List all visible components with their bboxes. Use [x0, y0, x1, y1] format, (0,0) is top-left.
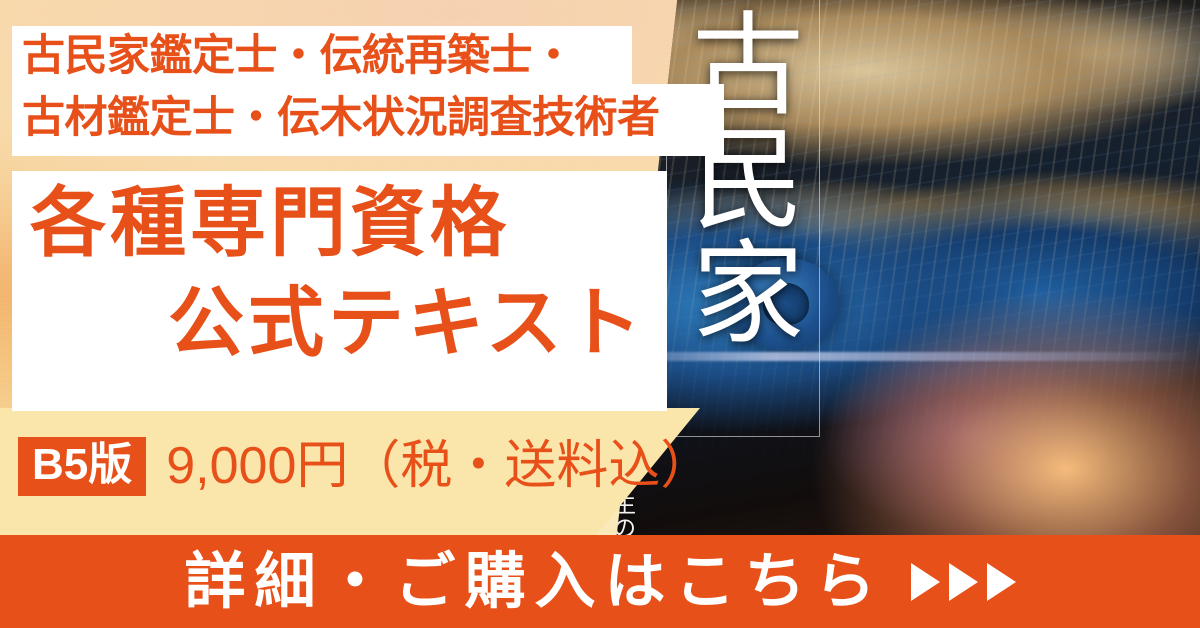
format-badge: B5版 [18, 437, 146, 496]
header-line-1: 古民家鑑定士・伝統再築士・ [12, 26, 728, 88]
cta-button[interactable]: 詳細・ご購入はこちら [0, 535, 1200, 628]
chevron-right-icon [911, 563, 940, 601]
chevron-right-icon [949, 563, 978, 601]
headline-line-2: 公式テキスト [168, 286, 808, 362]
headline-line-1: 各種専門資格 [30, 186, 670, 262]
cta-label: 詳細・ご購入はこちら [184, 551, 884, 612]
price-row: B5版 9,000円（税・送料込） [18, 428, 712, 504]
promo-banner: 伝統構法、古民家活用のための調査と再生の 古民家 古民家鑑定士・伝統再築士・ 古… [0, 0, 1200, 628]
header-line-2: 古材鑑定士・伝木状況調査技術者 [12, 88, 728, 150]
cta-arrow-group [911, 563, 1016, 601]
price-amount: 9,000円（税・送料込） [166, 440, 712, 492]
chevron-right-icon [987, 563, 1016, 601]
header-qualifications: 古民家鑑定士・伝統再築士・ 古材鑑定士・伝木状況調査技術者 [12, 26, 728, 156]
